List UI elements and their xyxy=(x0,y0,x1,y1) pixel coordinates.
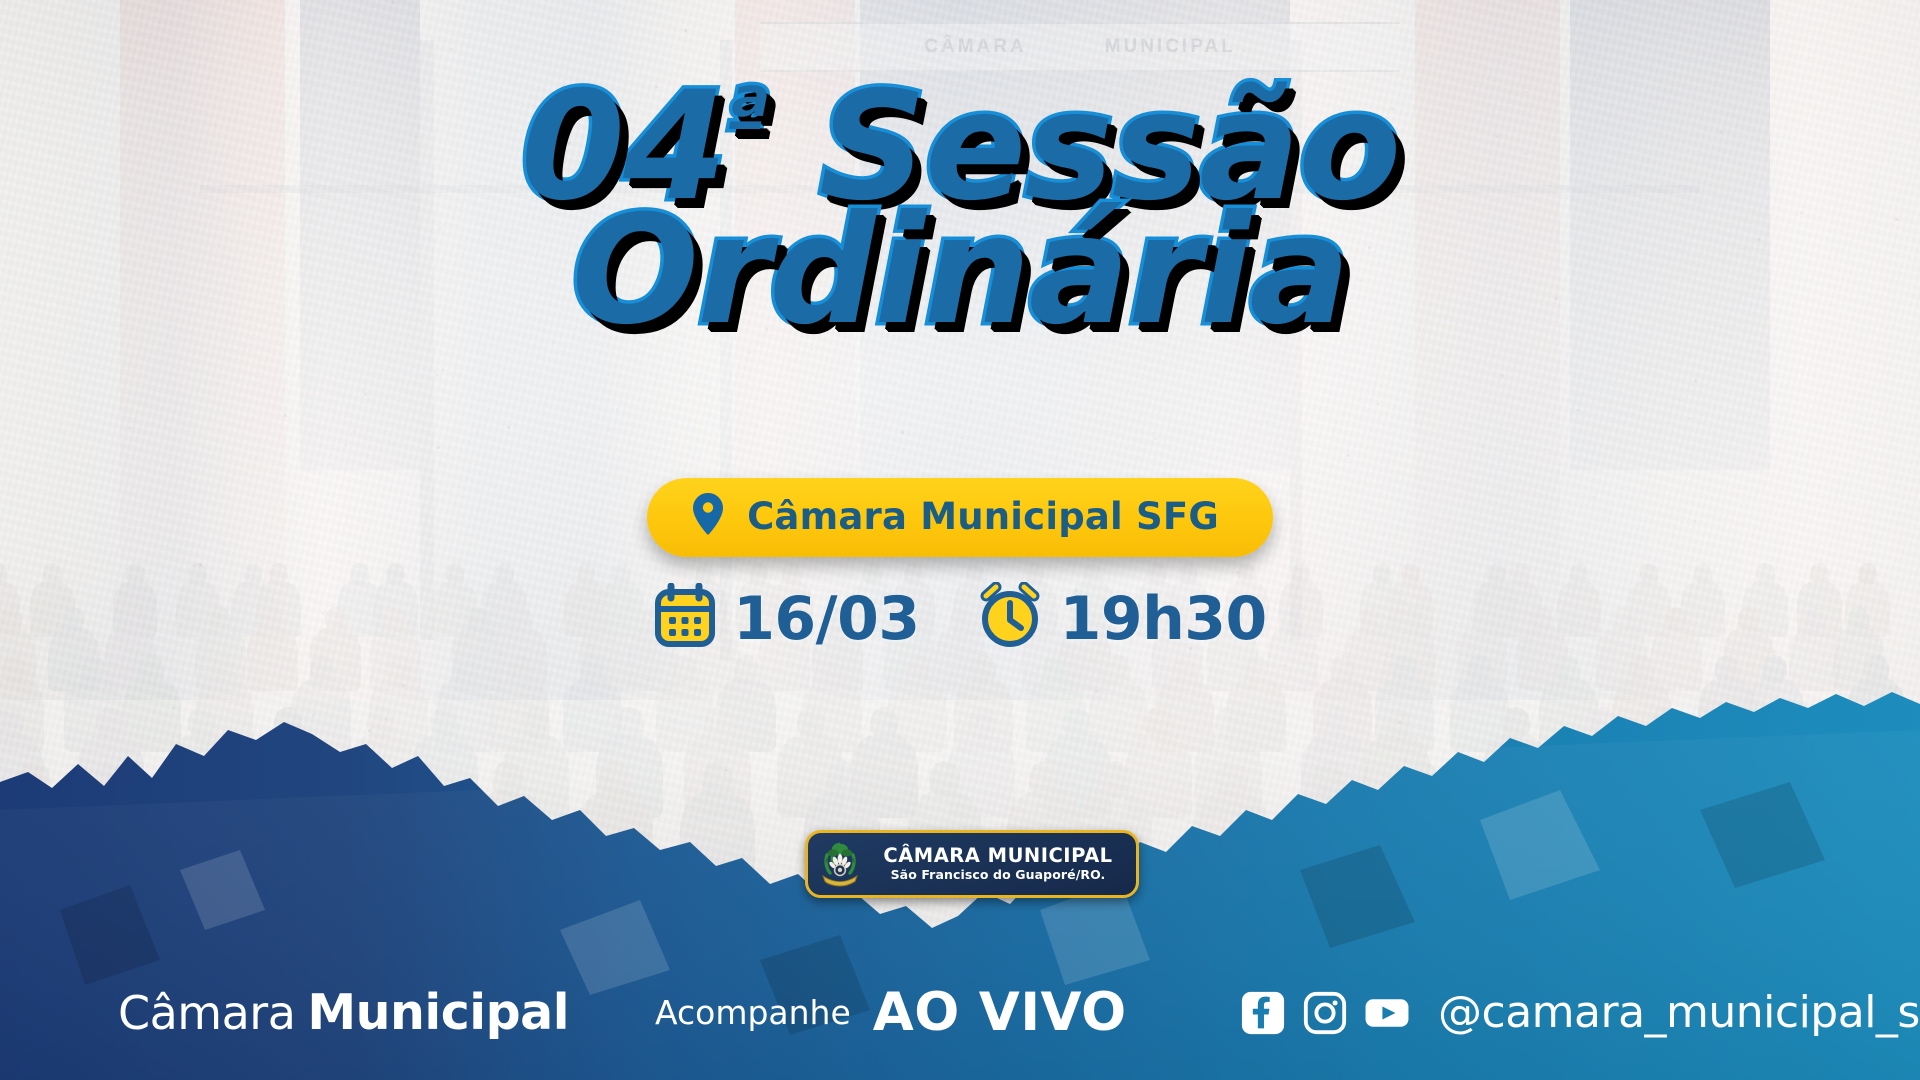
date-value: 16/03 xyxy=(733,584,919,654)
date-item: 16/03 xyxy=(653,583,919,654)
poster-canvas: CÂMARA MUNICIPAL 04ª Sessão Ordinária Câ… xyxy=(0,0,1920,1080)
coat-of-arms-icon xyxy=(816,839,864,889)
map-pin-icon xyxy=(691,492,725,541)
footer-brand-bold: Municipal xyxy=(307,984,569,1041)
footer-brand-light: Câmara xyxy=(118,986,295,1040)
location-badge-row: Câmara Municipal SFG xyxy=(0,478,1920,557)
footer-bar: Câmara Municipal Acompanhe AO VIVO xyxy=(0,960,1920,1065)
footer-handle: @camara_municipal_sfg xyxy=(1438,987,1920,1038)
footer-brand: Câmara Municipal xyxy=(118,960,569,1065)
footer-social: @camara_municipal_sfg xyxy=(1240,960,1920,1065)
calendar-icon xyxy=(653,583,717,654)
footer-live-label: AO VIVO xyxy=(873,982,1127,1043)
title-ordinal-suffix: ª xyxy=(725,72,768,162)
logo-badge-text: CÂMARA MUNICIPAL São Francisco do Guapor… xyxy=(870,846,1126,881)
logo-badge-subtitle: São Francisco do Guaporé/RO. xyxy=(870,868,1126,882)
footer-live: Acompanhe AO VIVO xyxy=(655,960,1127,1065)
youtube-icon[interactable] xyxy=(1364,990,1410,1036)
footer-live-prefix: Acompanhe xyxy=(655,993,851,1032)
time-item: 19h30 xyxy=(976,582,1267,655)
institution-logo-badge: CÂMARA MUNICIPAL São Francisco do Guapor… xyxy=(805,830,1139,898)
alarm-clock-icon xyxy=(976,582,1044,655)
time-value: 19h30 xyxy=(1060,584,1267,654)
page-title: 04ª Sessão Ordinária xyxy=(0,78,1920,340)
location-badge-label: Câmara Municipal SFG xyxy=(747,495,1219,538)
location-badge[interactable]: Câmara Municipal SFG xyxy=(647,478,1273,557)
title-line-2: Ordinária xyxy=(0,202,1920,340)
datetime-row: 16/03 19h30 xyxy=(0,582,1920,655)
facebook-icon[interactable] xyxy=(1240,990,1286,1036)
instagram-icon[interactable] xyxy=(1302,990,1348,1036)
logo-badge-title: CÂMARA MUNICIPAL xyxy=(870,846,1126,867)
